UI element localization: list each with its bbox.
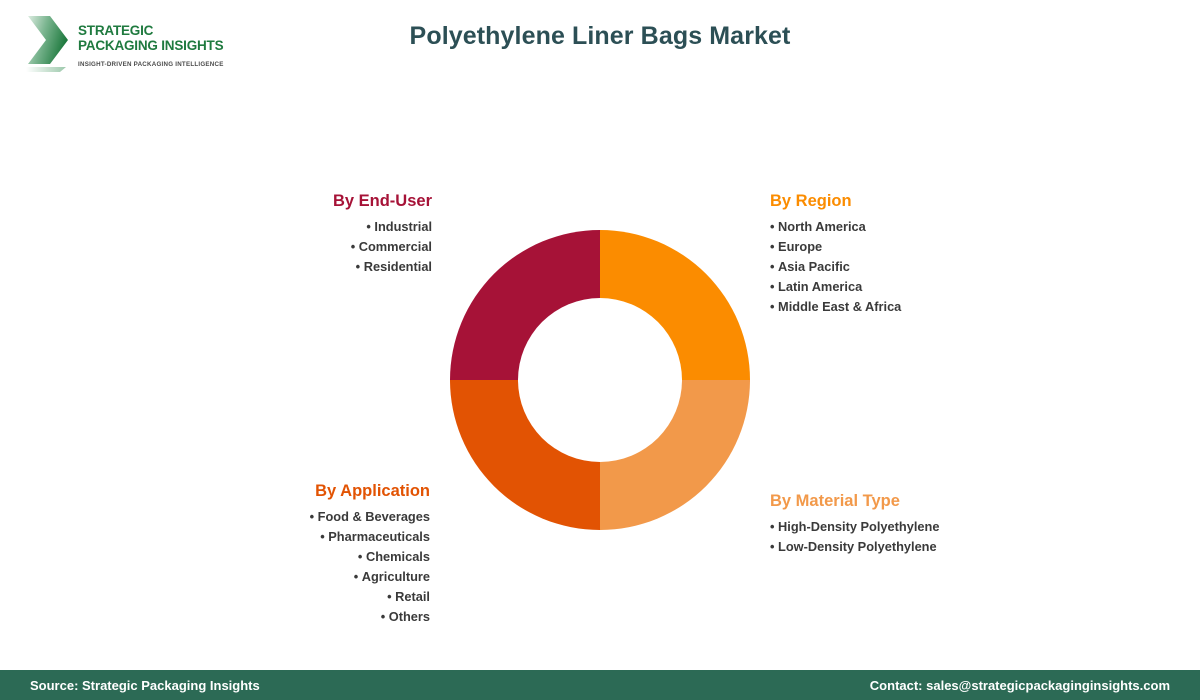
segment-end-user-title: By End-User: [132, 192, 432, 211]
list-item: Industrial: [132, 217, 432, 237]
list-item: Pharmaceuticals: [108, 527, 430, 547]
list-item: Residential: [132, 257, 432, 277]
list-item: Food & Beverages: [108, 507, 430, 527]
list-item: Middle East & Africa: [770, 297, 1110, 317]
list-item: Agriculture: [108, 567, 430, 587]
segment-end-user-list: Industrial Commercial Residential: [132, 217, 432, 277]
segment-application-list: Food & Beverages Pharmaceuticals Chemica…: [108, 507, 430, 627]
segment-material-type-list: High-Density Polyethylene Low-Density Po…: [770, 517, 1110, 557]
list-item: Commercial: [132, 237, 432, 257]
segment-material-type-title: By Material Type: [770, 492, 1110, 511]
list-item: North America: [770, 217, 1110, 237]
segment-end-user: By End-User Industrial Commercial Reside…: [132, 192, 432, 277]
segment-material-type: By Material Type High-Density Polyethyle…: [770, 492, 1110, 557]
footer-source: Source: Strategic Packaging Insights: [30, 678, 260, 693]
list-item: High-Density Polyethylene: [770, 517, 1110, 537]
donut-chart: [450, 230, 750, 530]
segment-application: By Application Food & Beverages Pharmace…: [108, 482, 430, 627]
list-item: Retail: [108, 587, 430, 607]
list-item: Latin America: [770, 277, 1110, 297]
list-item: Others: [108, 607, 430, 627]
list-item: Chemicals: [108, 547, 430, 567]
footer-contact: Contact: sales@strategicpackaginginsight…: [870, 678, 1170, 693]
segment-region-list: North America Europe Asia Pacific Latin …: [770, 217, 1110, 317]
list-item: Europe: [770, 237, 1110, 257]
segment-region-title: By Region: [770, 192, 1110, 211]
list-item: Low-Density Polyethylene: [770, 537, 1110, 557]
footer-bar: Source: Strategic Packaging Insights Con…: [0, 670, 1200, 700]
list-item: Asia Pacific: [770, 257, 1110, 277]
segment-application-title: By Application: [108, 482, 430, 501]
logo-tagline: INSIGHT-DRIVEN PACKAGING INTELLIGENCE: [78, 61, 224, 68]
page-title: Polyethylene Liner Bags Market: [0, 22, 1200, 51]
donut-hole: [518, 298, 682, 462]
infographic-page: STRATEGIC PACKAGING INSIGHTS INSIGHT-DRI…: [0, 0, 1200, 700]
segment-region: By Region North America Europe Asia Paci…: [770, 192, 1110, 317]
